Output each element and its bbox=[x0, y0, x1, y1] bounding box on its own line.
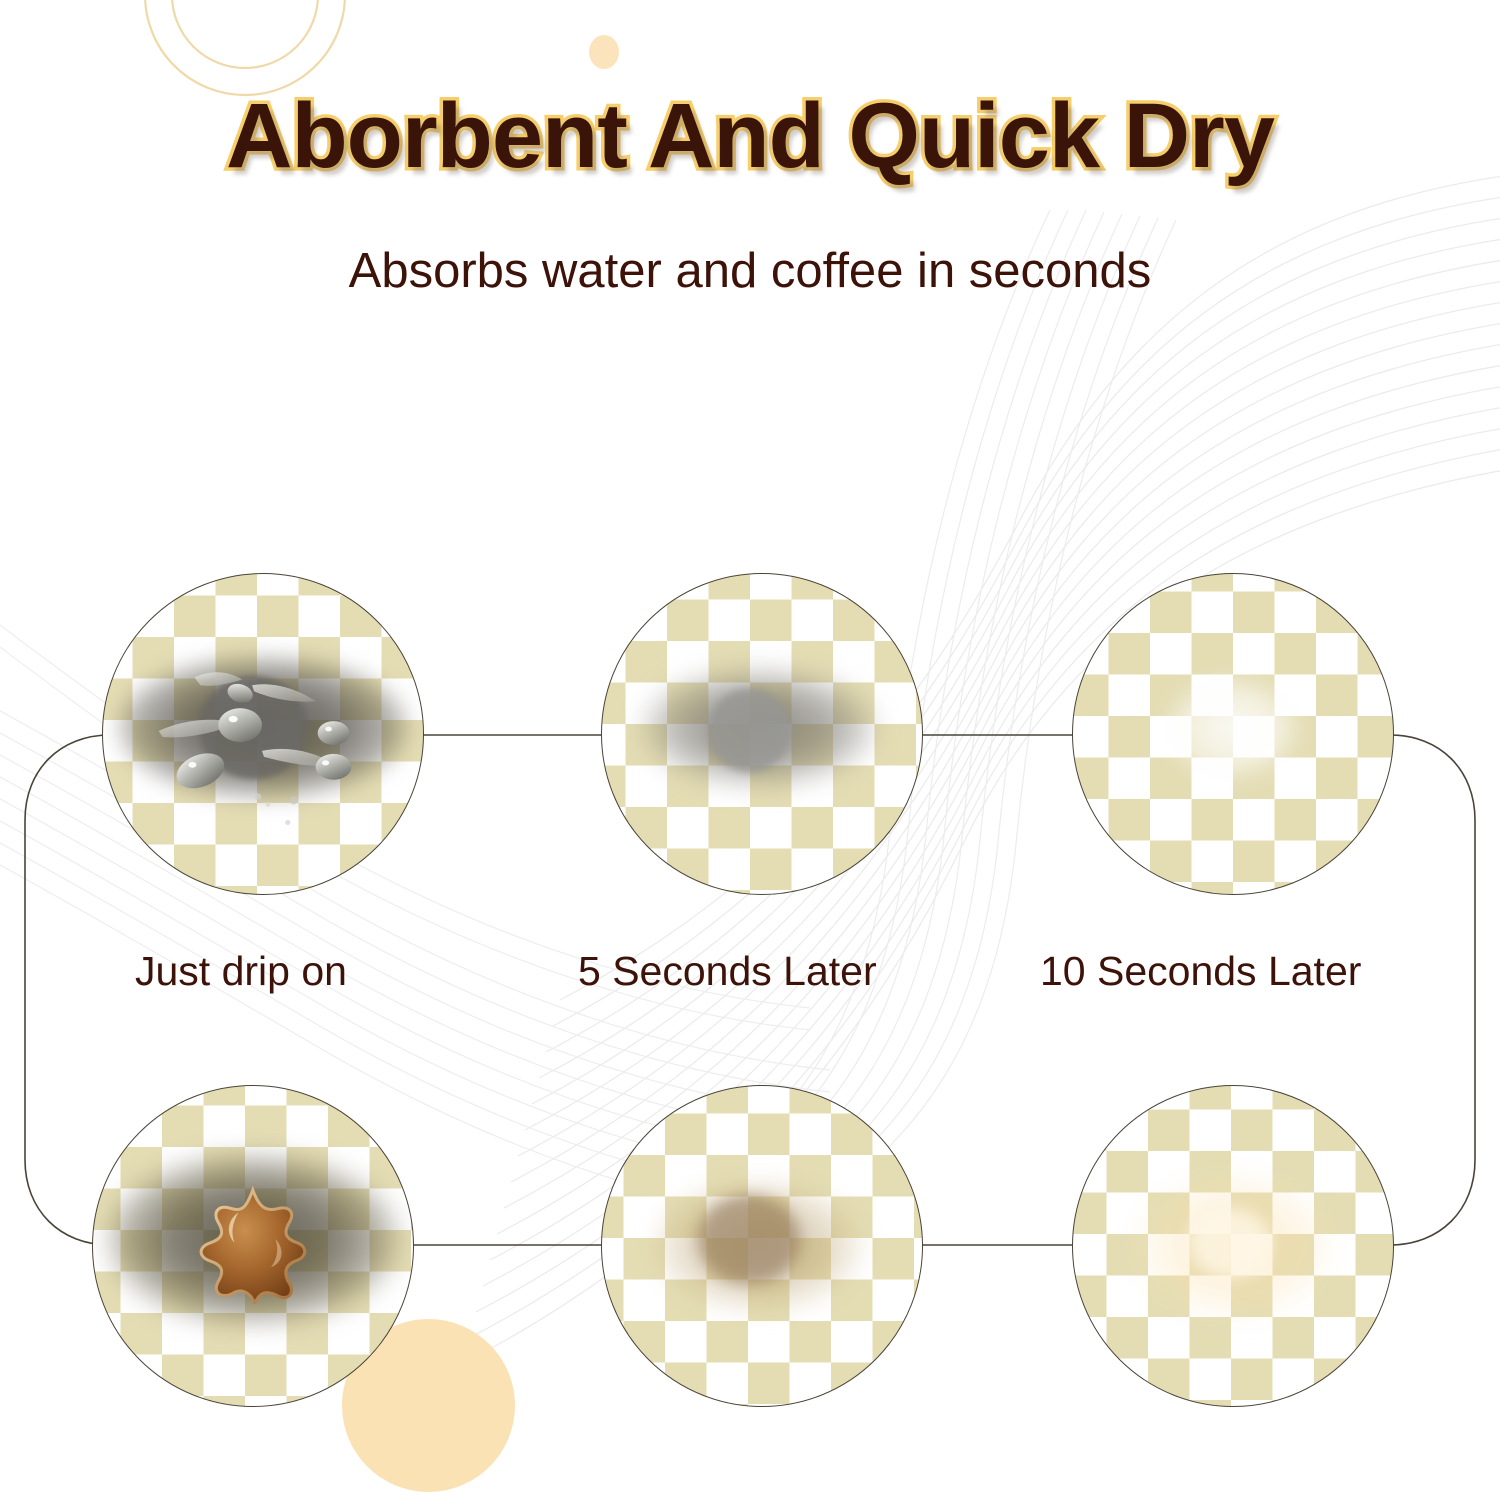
caption-5-seconds-later: 5 Seconds Later bbox=[578, 948, 877, 995]
water-dry-patch bbox=[1169, 680, 1297, 776]
peach-dot-small-icon bbox=[589, 35, 619, 69]
sample-coffee-5-seconds bbox=[601, 1085, 923, 1407]
sample-coffee-just-drip bbox=[92, 1085, 414, 1407]
coffee-residue-core bbox=[1188, 1208, 1271, 1278]
concentric-rings-icon bbox=[145, 0, 345, 95]
sample-coffee-10-seconds bbox=[1072, 1085, 1394, 1407]
caption-10-seconds-later: 10 Seconds Later bbox=[1040, 948, 1361, 995]
subheadline-container: Absorbs water and coffee in seconds bbox=[0, 243, 1500, 299]
coffee-splat-icon bbox=[192, 1182, 314, 1304]
water-droplets-icon bbox=[103, 574, 423, 894]
page-title: Aborbent And Quick Dry bbox=[226, 88, 1274, 185]
coffee-stain-core bbox=[698, 1195, 800, 1285]
page-subtitle: Absorbs water and coffee in seconds bbox=[349, 243, 1152, 299]
water-wet-core bbox=[708, 689, 791, 772]
sample-water-10-seconds bbox=[1072, 573, 1394, 895]
sample-water-just-drip bbox=[102, 573, 424, 895]
infographic-canvas: Aborbent And Quick Dry Absorbs water and… bbox=[0, 0, 1500, 1496]
sample-water-5-seconds bbox=[601, 573, 923, 895]
headline-container: Aborbent And Quick Dry bbox=[0, 88, 1500, 185]
caption-just-drip-on: Just drip on bbox=[135, 948, 347, 995]
